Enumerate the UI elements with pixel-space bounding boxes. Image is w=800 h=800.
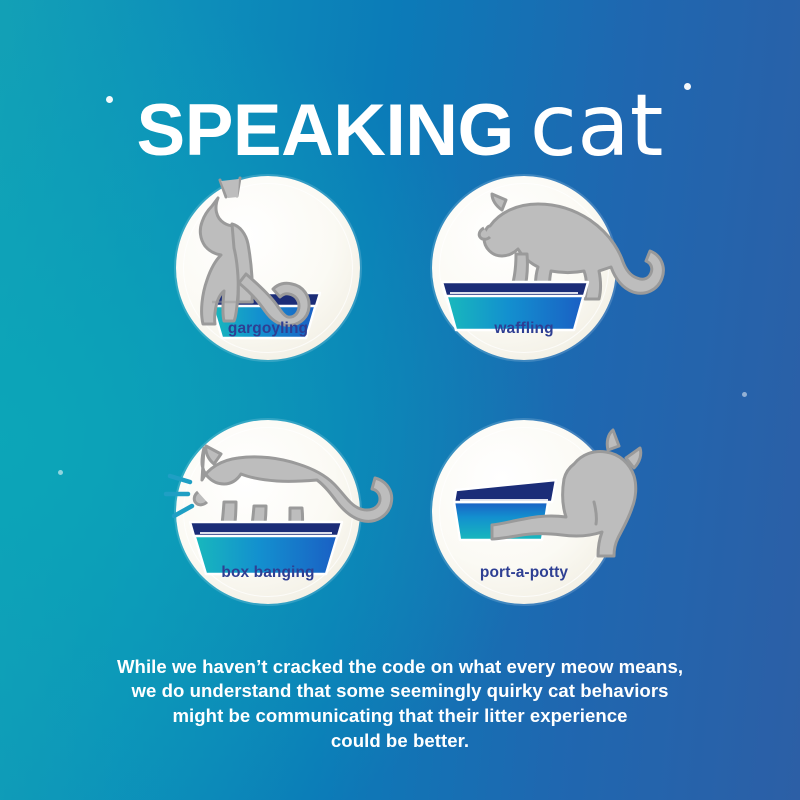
body-copy-line-4: could be better.	[38, 729, 762, 754]
badge-waffling[interactable]: waffling	[432, 176, 616, 360]
badge-gargoyling[interactable]: gargoyling	[176, 176, 360, 360]
body-copy-line-2: we do understand that some seemingly qui…	[38, 679, 762, 704]
body-copy: While we haven’t cracked the code on wha…	[38, 655, 762, 754]
poster-canvas: SPEAKINGcat	[0, 0, 800, 800]
speckle-dot	[742, 392, 747, 397]
body-copy-line-3: might be communicating that their litter…	[38, 704, 762, 729]
speckle-dot	[58, 470, 63, 475]
badge-port-a-potty[interactable]: port-a-potty	[432, 420, 616, 604]
badge-caption: gargoyling	[146, 320, 390, 338]
body-copy-line-1: While we haven’t cracked the code on wha…	[38, 655, 762, 680]
badge-caption: waffling	[402, 320, 646, 338]
badge-caption: box banging	[146, 564, 390, 582]
badge-caption: port-a-potty	[402, 564, 646, 582]
badge-box-banging[interactable]: box banging	[176, 420, 360, 604]
